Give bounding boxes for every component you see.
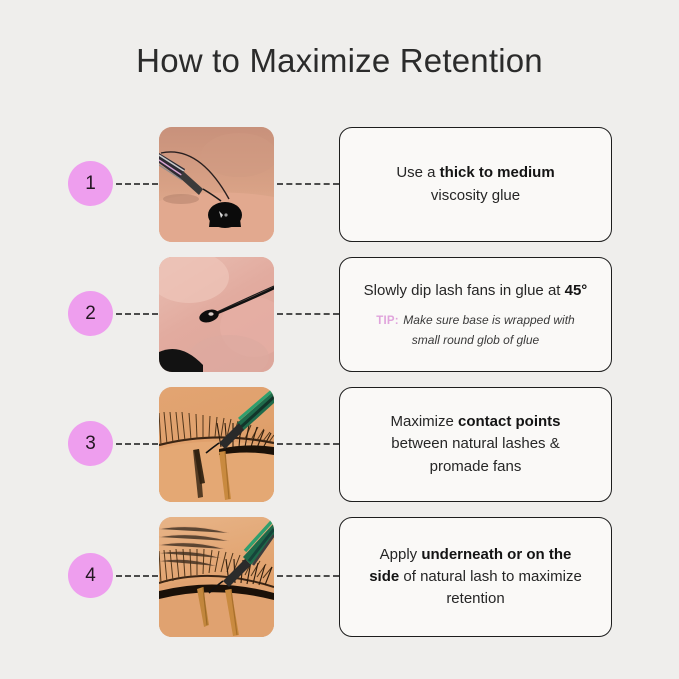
step-2-tip-line-1: TIP: Make sure base is wrapped with bbox=[376, 309, 574, 332]
tip-text-line-2: small round glob of glue bbox=[376, 332, 574, 349]
step-2-line-1-pre: Slowly dip lash fans in glue at bbox=[364, 282, 565, 299]
step-2-line-1: Slowly dip lash fans in glue at 45° bbox=[364, 280, 588, 302]
step-4-line-2-post: of natural lash to maximize bbox=[399, 568, 582, 585]
connector-dash-right-2 bbox=[277, 313, 339, 315]
connector-dash-right-3 bbox=[277, 443, 339, 445]
connector-dash-left-2 bbox=[116, 313, 158, 315]
step-2-line-1-bold: 45° bbox=[565, 282, 588, 299]
step-card-3: Maximize contact points between natural … bbox=[339, 387, 612, 502]
step-row-1: 1 bbox=[0, 127, 679, 245]
step-1-line-2: viscosity glue bbox=[431, 185, 520, 207]
step-image-3 bbox=[159, 387, 274, 502]
step-image-1-art bbox=[159, 127, 274, 242]
step-4-line-3: retention bbox=[446, 588, 504, 610]
step-3-line-2: between natural lashes & bbox=[391, 433, 559, 455]
step-3-line-1-pre: Maximize bbox=[390, 413, 458, 430]
step-row-2: 2 bbox=[0, 257, 679, 375]
step-4-line-2: side of natural lash to maximize bbox=[369, 566, 582, 588]
step-3-line-1-bold: contact points bbox=[458, 413, 561, 430]
step-image-3-art bbox=[159, 387, 274, 502]
step-number-badge-2: 2 bbox=[68, 291, 113, 336]
step-number-badge-1: 1 bbox=[68, 161, 113, 206]
step-card-4: Apply underneath or on the side of natur… bbox=[339, 517, 612, 637]
page-title: How to Maximize Retention bbox=[0, 42, 679, 80]
step-number-badge-3: 3 bbox=[68, 421, 113, 466]
step-image-2-art bbox=[159, 257, 274, 372]
step-4-line-1: Apply underneath or on the bbox=[380, 544, 572, 566]
connector-dash-left-1 bbox=[116, 183, 158, 185]
connector-dash-left-4 bbox=[116, 575, 158, 577]
infographic-page: How to Maximize Retention 1 bbox=[0, 0, 679, 679]
step-4-line-2-bold: side bbox=[369, 568, 399, 585]
step-image-4-art bbox=[159, 517, 274, 637]
tip-text-line-1: Make sure base is wrapped with bbox=[403, 313, 574, 327]
connector-dash-right-4 bbox=[277, 575, 339, 577]
step-4-line-1-bold: underneath or on the bbox=[421, 546, 571, 563]
step-1-line-1: Use a thick to medium bbox=[396, 162, 554, 184]
step-2-tip: TIP: Make sure base is wrapped with smal… bbox=[376, 309, 574, 349]
step-3-line-3: promade fans bbox=[430, 456, 522, 478]
step-number-badge-4: 4 bbox=[68, 553, 113, 598]
connector-dash-left-3 bbox=[116, 443, 158, 445]
step-image-4 bbox=[159, 517, 274, 637]
step-card-2: Slowly dip lash fans in glue at 45° TIP:… bbox=[339, 257, 612, 372]
step-1-line-1-pre: Use a bbox=[396, 164, 439, 181]
step-image-1 bbox=[159, 127, 274, 242]
step-row-4: 4 bbox=[0, 517, 679, 639]
tip-label: TIP: bbox=[376, 315, 399, 327]
step-3-line-1: Maximize contact points bbox=[390, 411, 560, 433]
step-card-1: Use a thick to medium viscosity glue bbox=[339, 127, 612, 242]
step-image-2 bbox=[159, 257, 274, 372]
step-row-3: 3 bbox=[0, 387, 679, 505]
step-1-line-1-bold: thick to medium bbox=[440, 164, 555, 181]
connector-dash-right-1 bbox=[277, 183, 339, 185]
step-4-line-1-pre: Apply bbox=[380, 546, 422, 563]
